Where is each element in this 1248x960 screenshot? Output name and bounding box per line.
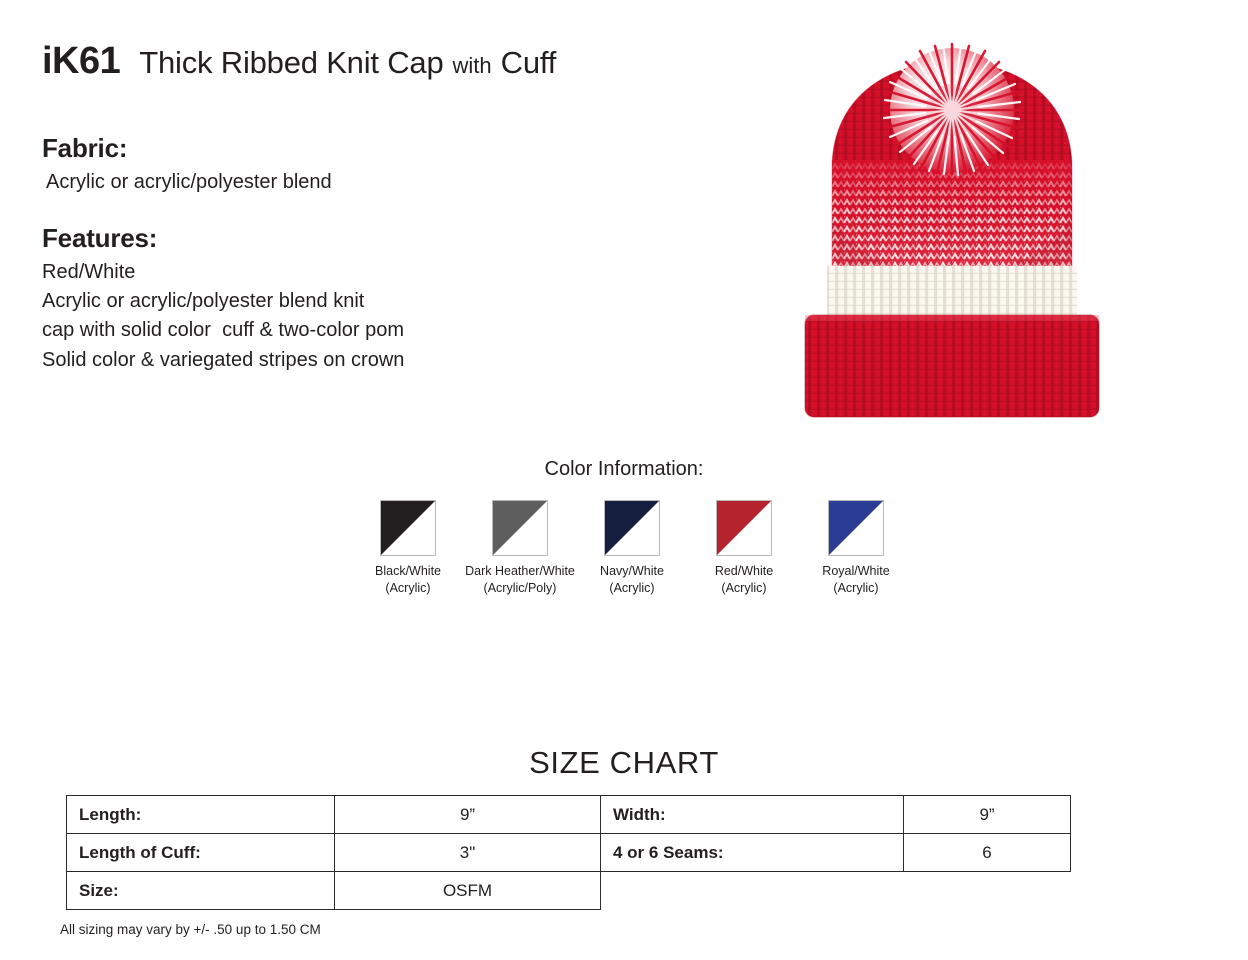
fabric-heading: Fabric:	[42, 134, 562, 163]
color-swatch-item[interactable]: Royal/White (Acrylic)	[800, 500, 912, 596]
color-information-title: Color Information:	[0, 458, 1248, 481]
diagonal-split-icon	[829, 501, 883, 555]
size-row-label: Width:	[601, 796, 904, 834]
table-row: Length of Cuff: 3" 4 or 6 Seams: 6	[67, 834, 1071, 872]
empty-cell	[904, 872, 1071, 910]
title-connector: with	[453, 53, 492, 79]
color-swatch-item[interactable]: Red/White (Acrylic)	[688, 500, 800, 596]
size-row-value: 9”	[335, 796, 601, 834]
diagonal-split-icon	[493, 501, 547, 555]
fabric-text: Acrylic or acrylic/polyester blend	[42, 168, 562, 197]
color-swatch-list: Black/White (Acrylic) Dark Heather/White…	[352, 500, 912, 596]
color-swatch-material: (Acrylic)	[721, 580, 766, 597]
color-swatch-item[interactable]: Black/White (Acrylic)	[352, 500, 464, 596]
product-image	[772, 18, 1132, 418]
color-swatch-material: (Acrylic)	[609, 580, 654, 597]
color-swatch-name: Dark Heather/White	[465, 563, 575, 580]
feature-line: Red/White	[42, 258, 562, 287]
size-row-label: 4 or 6 Seams:	[601, 834, 904, 872]
color-swatch-material: (Acrylic/Poly)	[484, 580, 557, 597]
color-swatch-material: (Acrylic)	[385, 580, 430, 597]
product-name-suffix: Cuff	[501, 45, 557, 81]
color-swatch-name: Royal/White	[822, 563, 889, 580]
cap-white-stripe	[827, 266, 1077, 318]
specifications-block: Fabric: Acrylic or acrylic/polyester ble…	[42, 134, 562, 375]
diagonal-split-icon	[717, 501, 771, 555]
size-row-value: 6	[904, 834, 1071, 872]
cap-cuff	[805, 315, 1099, 417]
page-title: iK61 Thick Ribbed Knit Cap with Cuff	[42, 40, 556, 83]
color-swatch-dark-heather-white	[492, 500, 548, 556]
features-heading: Features:	[42, 224, 562, 253]
color-swatch-red-white	[716, 500, 772, 556]
color-swatch-navy-white	[604, 500, 660, 556]
empty-cell	[601, 872, 904, 910]
size-row-value: 3"	[335, 834, 601, 872]
knit-cap-illustration	[772, 18, 1132, 418]
product-name: Thick Ribbed Knit Cap	[139, 45, 443, 81]
diagonal-split-icon	[605, 501, 659, 555]
color-swatch-item[interactable]: Dark Heather/White (Acrylic/Poly)	[464, 500, 576, 596]
table-row: Length: 9” Width: 9”	[67, 796, 1071, 834]
sizing-footnote: All sizing may vary by +/- .50 up to 1.5…	[60, 922, 321, 937]
size-chart-title: SIZE CHART	[0, 745, 1248, 781]
size-row-value: OSFM	[335, 872, 601, 910]
feature-line: Solid color & variegated stripes on crow…	[42, 346, 562, 375]
style-code: iK61	[42, 40, 120, 83]
color-swatch-name: Black/White	[375, 563, 441, 580]
size-chart-table: Length: 9” Width: 9” Length of Cuff: 3" …	[66, 795, 1071, 910]
size-row-label: Length:	[67, 796, 335, 834]
size-row-label: Length of Cuff:	[67, 834, 335, 872]
color-swatch-royal-white	[828, 500, 884, 556]
color-swatch-name: Navy/White	[600, 563, 664, 580]
feature-line: Acrylic or acrylic/polyester blend knit	[42, 287, 562, 316]
color-swatch-material: (Acrylic)	[833, 580, 878, 597]
feature-line: cap with solid color cuff & two-color po…	[42, 316, 562, 345]
size-row-value: 9”	[904, 796, 1071, 834]
spacer	[42, 197, 562, 224]
color-swatch-item[interactable]: Navy/White (Acrylic)	[576, 500, 688, 596]
color-swatch-name: Red/White	[715, 563, 773, 580]
color-swatch-black-white	[380, 500, 436, 556]
diagonal-split-icon	[381, 501, 435, 555]
table-row: Size: OSFM	[67, 872, 1071, 910]
size-row-label: Size:	[67, 872, 335, 910]
